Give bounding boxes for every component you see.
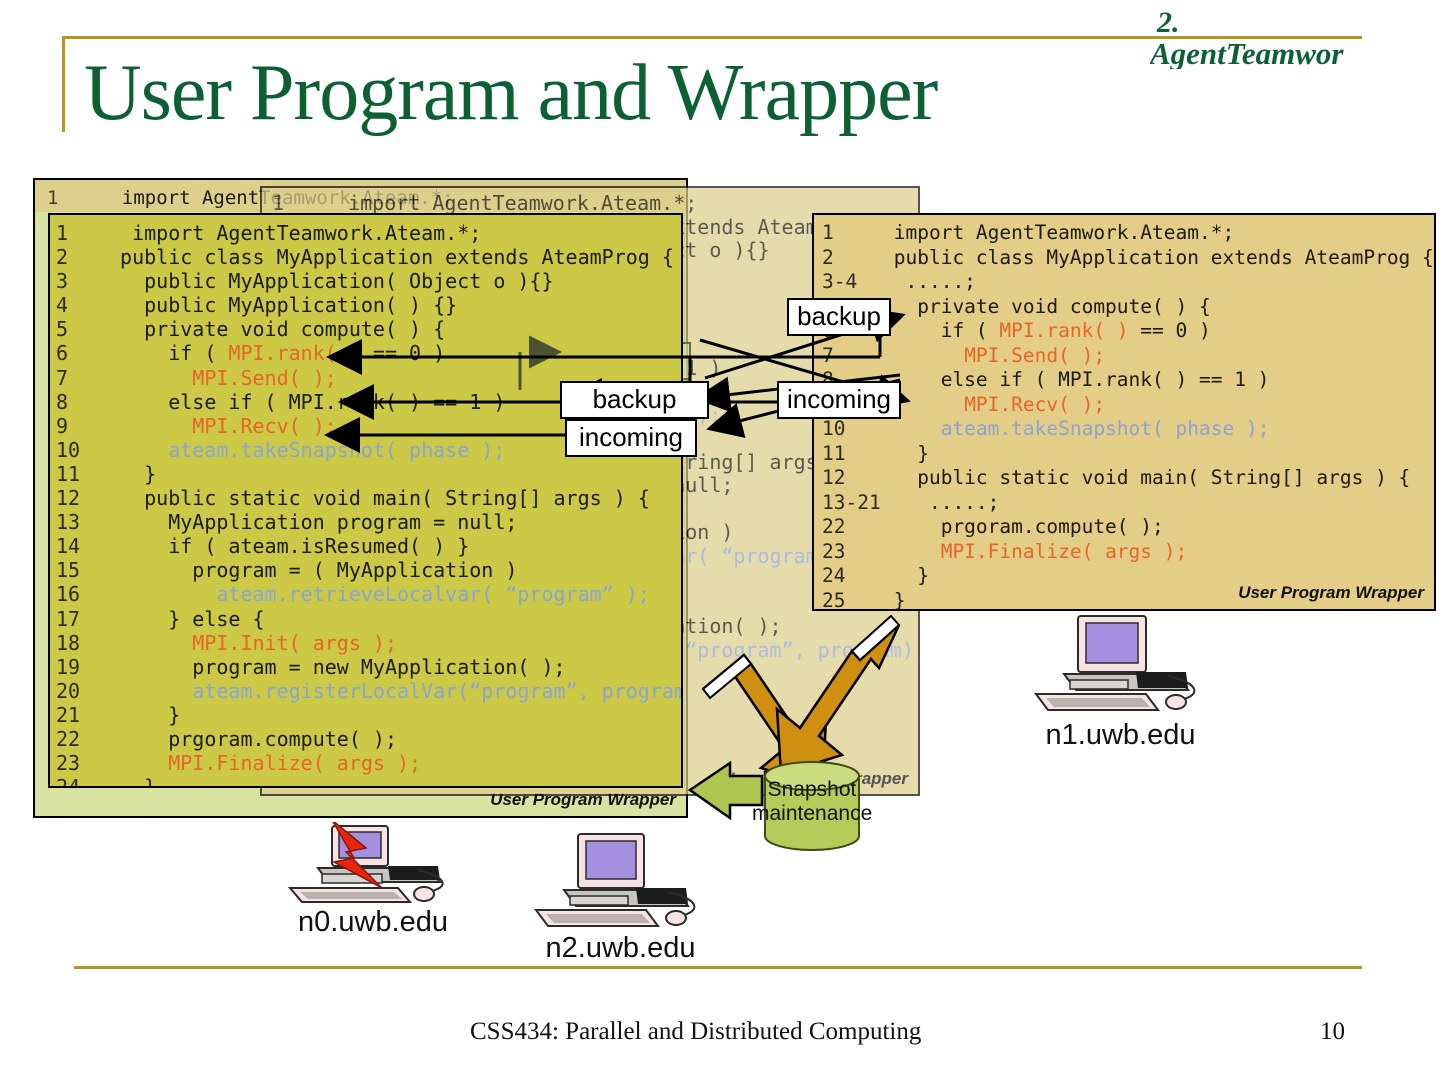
computer-icon (278, 822, 468, 904)
tag-incoming-right[interactable]: incoming (777, 381, 901, 419)
tag-backup-left[interactable]: backup (560, 381, 709, 419)
host-n2: n2.uwb.edu (528, 830, 713, 965)
host-label-n0: n0.uwb.edu (278, 906, 468, 939)
computer-icon (528, 830, 713, 930)
snapshot-db-caption: Snapshot maintenance (752, 778, 872, 826)
host-label-n2: n2.uwb.edu (528, 932, 713, 965)
snapshot-arrow-from-right (777, 616, 899, 774)
snapshot-db-line2: maintenance (752, 802, 872, 826)
host-n1: n1.uwb.edu (1028, 612, 1213, 752)
host-label-n1: n1.uwb.edu (1028, 719, 1213, 752)
snapshot-db-line1: Snapshot (752, 778, 872, 802)
host-n0: n0.uwb.edu (278, 822, 468, 939)
connector-arrows (0, 0, 1440, 1080)
computer-icon (1028, 612, 1213, 717)
tag-backup-right[interactable]: backup (787, 298, 891, 336)
tag-incoming-left[interactable]: incoming (565, 419, 697, 457)
